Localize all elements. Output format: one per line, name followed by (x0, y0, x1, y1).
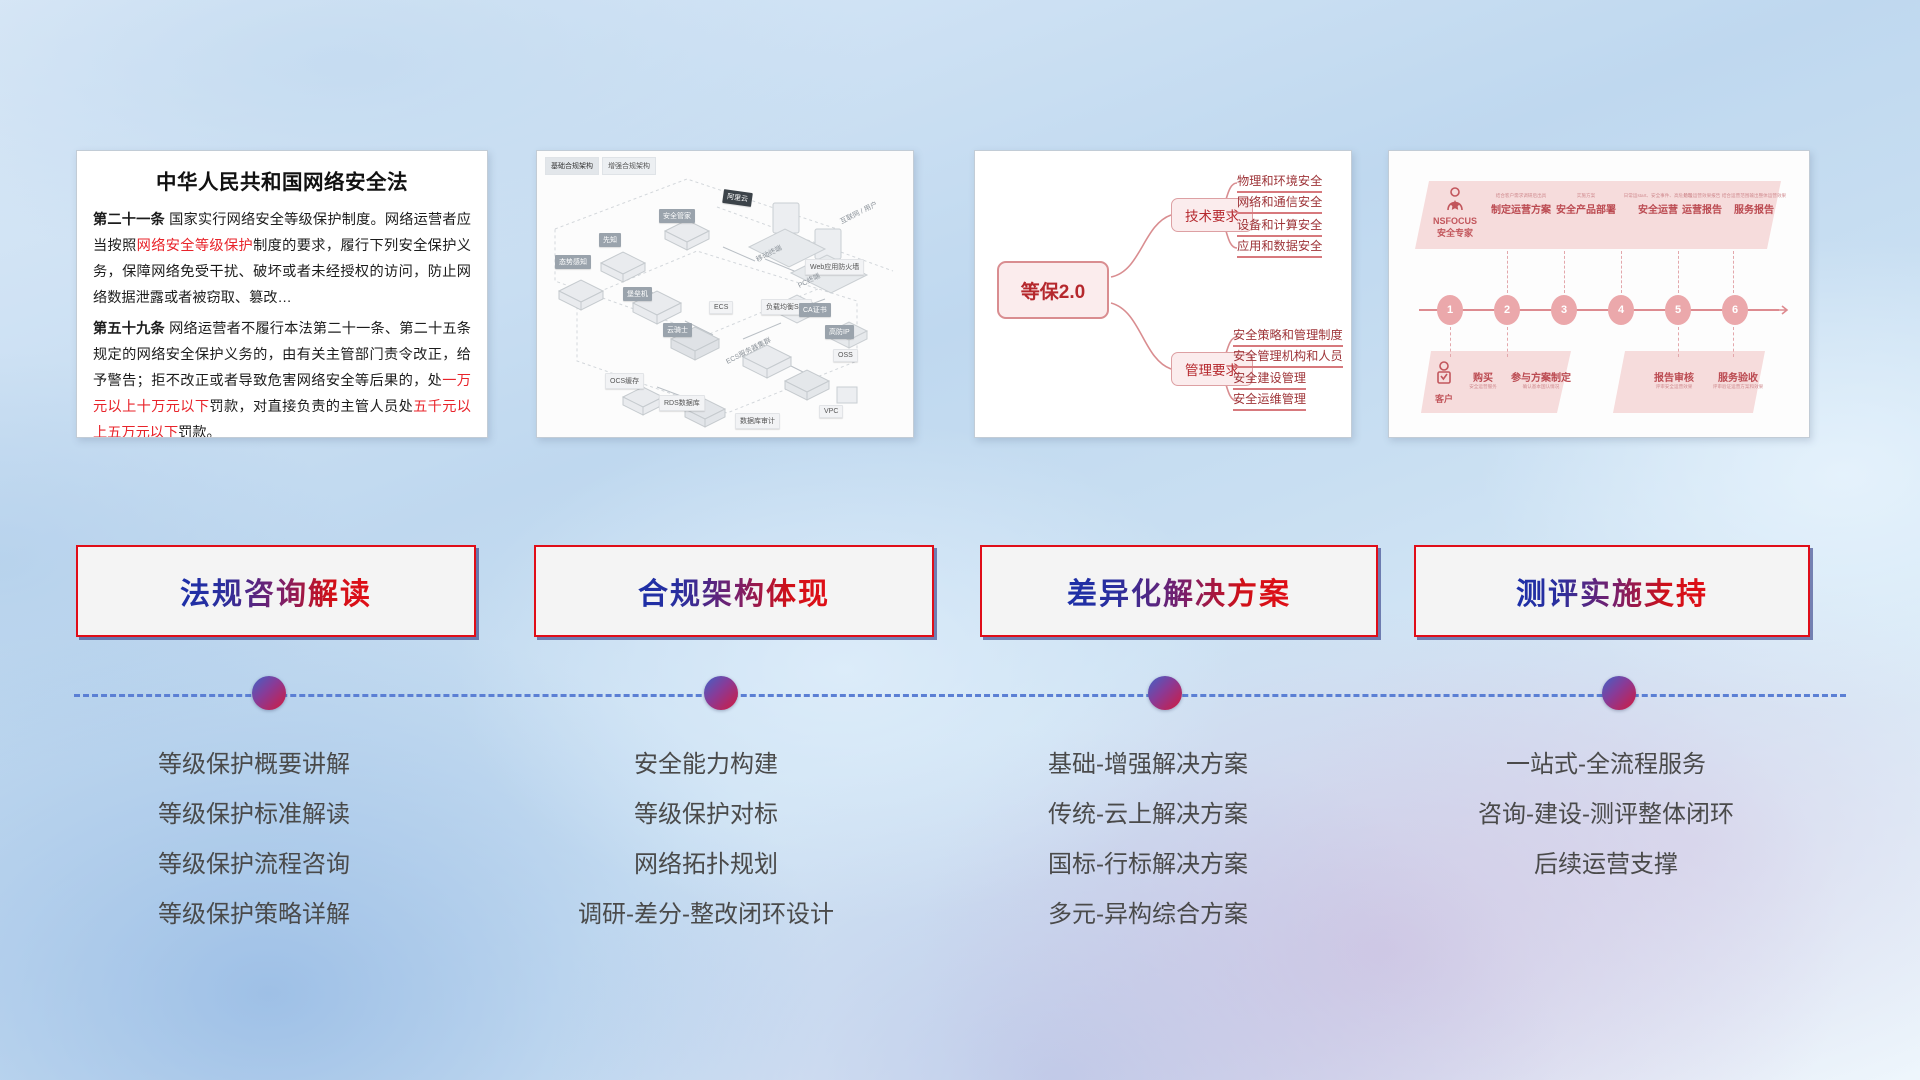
arch-node-ecs: ECS (709, 301, 733, 314)
nsfocus-customer-role: 客户 (1427, 392, 1461, 405)
list-item: 等级保护概要讲解 (74, 740, 434, 790)
list-item: 咨询-建设-测评整体闭环 (1406, 790, 1806, 840)
architecture-diagram: 基础合规架构 增强合规架构 (537, 151, 913, 437)
nsfocus-dash-5 (1733, 251, 1734, 293)
nsfocus-node-1: 1 (1437, 295, 1463, 325)
arch-node-xianzhi: 先知 (599, 233, 621, 247)
card-nsfocus-process[interactable]: NSFOCUS 安全专家 结合客户需求调研后出具 制定运营方案 实施方案 安全产… (1388, 150, 1810, 438)
title-box-differentiated-solution[interactable]: 差异化解决方案 (980, 545, 1378, 637)
title-box-compliance-architecture-label: 合规架构体现 (638, 569, 830, 613)
nsfocus-dash-6 (1450, 327, 1451, 357)
mindmap-leaf-construction-mgmt: 安全建设管理 (1233, 368, 1306, 390)
law-article-21: 第二十一条 国家实行网络安全等级保护制度。网络运营者应当按照网络安全等级保护制度… (93, 207, 471, 311)
expert-person-icon (1444, 187, 1466, 211)
nsfocus-bottom-step-1: 购买 安全运营服务 (1461, 367, 1505, 390)
law-content: 中华人民共和国网络安全法 第二十一条 国家实行网络安全等级保护制度。网络运营者应… (77, 151, 487, 438)
nsfocus-node-6: 6 (1722, 295, 1748, 325)
list-item: 等级保护标准解读 (74, 790, 434, 840)
mindmap-leaf-ops-mgmt: 安全运维管理 (1233, 389, 1306, 411)
title-box-regulation-consulting-label: 法规咨询解读 (180, 569, 372, 613)
mindmap-leaf-device-compute: 设备和计算安全 (1237, 215, 1322, 237)
list-item: 后续运营支撑 (1406, 840, 1806, 890)
arch-node-bastion-host: 堡垒机 (623, 287, 652, 301)
mindmap-leaf-policy-system: 安全策略和管理制度 (1233, 325, 1343, 347)
nsfocus-dash-7 (1507, 327, 1508, 357)
title-box-differentiated-solution-label: 差异化解决方案 (1067, 569, 1291, 613)
list-column-regulation: 等级保护概要讲解 等级保护标准解读 等级保护流程咨询 等级保护策略详解 (74, 740, 434, 940)
cards-row: 中华人民共和国网络安全法 第二十一条 国家实行网络安全等级保护制度。网络运营者应… (0, 150, 1920, 440)
nsfocus-node-3: 3 (1551, 295, 1577, 325)
nsfocus-bottom-step-2-main: 参与方案制定 (1505, 369, 1577, 384)
nsfocus-dash-9 (1733, 327, 1734, 357)
list-item: 传统-云上解决方案 (962, 790, 1334, 840)
arch-node-vpc: VPC (819, 405, 843, 418)
timeline-dot-4[interactable] (1602, 676, 1636, 710)
list-column-evaluation: 一站式-全流程服务 咨询-建设-测评整体闭环 后续运营支撑 (1406, 740, 1806, 890)
nsfocus-axis-arrow-icon (1775, 301, 1793, 319)
nsfocus-dash-2 (1564, 251, 1565, 293)
nsfocus-step-5-sub: 结合运营范围输出整体运营效果 (1715, 193, 1793, 199)
title-boxes-row: 法规咨询解读 合规架构体现 差异化解决方案 测评实施支持 (0, 545, 1920, 637)
nsfocus-node-4: 4 (1608, 295, 1634, 325)
nsfocus-bottom-step-4-sub: 评审验证运营方案和效果 (1701, 384, 1775, 390)
arch-node-cloud-knight: 云骑士 (663, 323, 692, 337)
arch-node-security-butler: 安全管家 (659, 209, 695, 223)
list-item: 国标-行标解决方案 (962, 840, 1334, 890)
arch-node-db-audit: 数据库审计 (735, 413, 780, 429)
nsfocus-bottom-step-4-main: 服务验收 (1701, 369, 1775, 384)
list-item: 网络拓扑规划 (520, 840, 892, 890)
bottom-lists-row: 等级保护概要讲解 等级保护标准解读 等级保护流程咨询 等级保护策略详解 安全能力… (0, 740, 1920, 960)
nsfocus-timeline: NSFOCUS 安全专家 结合客户需求调研后出具 制定运营方案 实施方案 安全产… (1389, 151, 1809, 437)
nsfocus-bottom-step-2: 参与方案制定 确认基本国认情况 (1505, 367, 1577, 390)
card-cybersecurity-law[interactable]: 中华人民共和国网络安全法 第二十一条 国家实行网络安全等级保护制度。网络运营者应… (76, 150, 488, 438)
nsfocus-dash-3 (1621, 251, 1622, 293)
nsfocus-node-2: 2 (1494, 295, 1520, 325)
nsfocus-bottom-step-4: 服务验收 评审验证运营方案和效果 (1701, 367, 1775, 390)
timeline (0, 690, 1920, 730)
list-item: 等级保护流程咨询 (74, 840, 434, 890)
nsfocus-dash-4 (1678, 251, 1679, 293)
list-item: 安全能力构建 (520, 740, 892, 790)
arch-node-rds-database: RDS数据库 (659, 395, 705, 411)
nsfocus-customer: 客户 (1427, 361, 1461, 405)
mindmap-leaf-app-data: 应用和数据安全 (1237, 236, 1322, 258)
nsfocus-step-5: 结合运营范围输出整体运营效果 服务报告 (1715, 193, 1793, 216)
title-box-evaluation-support[interactable]: 测评实施支持 (1414, 545, 1810, 637)
mindmap-leaf-network-comm: 网络和通信安全 (1237, 192, 1322, 214)
arch-node-situation-awareness: 态势感知 (555, 255, 591, 269)
law-title: 中华人民共和国网络安全法 (93, 165, 471, 195)
nsfocus-bottom-step-2-sub: 确认基本国认情况 (1505, 384, 1577, 390)
nsfocus-dash-1 (1507, 251, 1508, 293)
mindmap-leaf-physical-env: 物理和环境安全 (1237, 171, 1322, 193)
nsfocus-bottom-step-3: 报告审核 评审安全运营效果 (1641, 367, 1707, 390)
mindmap-root: 等保2.0 (997, 261, 1109, 319)
timeline-dot-2[interactable] (704, 676, 738, 710)
list-column-solution: 基础-增强解决方案 传统-云上解决方案 国标-行标解决方案 多元-异构综合方案 (962, 740, 1334, 940)
nsfocus-expert-role: 安全专家 (1429, 226, 1481, 239)
title-box-compliance-architecture[interactable]: 合规架构体现 (534, 545, 934, 637)
mindmap: 等保2.0 技术要求 管理要求 物理和环境安全 网络和通信安全 设备和计算安全 … (975, 151, 1351, 437)
list-item: 等级保护对标 (520, 790, 892, 840)
nsfocus-bottom-step-3-main: 报告审核 (1641, 369, 1707, 384)
timeline-dot-3[interactable] (1148, 676, 1182, 710)
mindmap-leaf-org-personnel: 安全管理机构和人员 (1233, 346, 1343, 368)
law-article-59-text-3: 罚款。 (178, 425, 221, 438)
law-article-59-text-2: 罚款，对直接负责的主管人员处 (209, 399, 413, 415)
nsfocus-node-5: 5 (1665, 295, 1691, 325)
title-box-evaluation-support-label: 测评实施支持 (1516, 569, 1708, 613)
law-article-21-label: 第二十一条 (93, 212, 165, 228)
list-item: 基础-增强解决方案 (962, 740, 1334, 790)
nsfocus-expert-name: NSFOCUS (1429, 216, 1481, 226)
arch-node-ca-certificate: CA证书 (799, 303, 831, 317)
nsfocus-expert: NSFOCUS 安全专家 (1429, 187, 1481, 239)
title-box-regulation-consulting[interactable]: 法规咨询解读 (76, 545, 476, 637)
law-article-59-label: 第五十九条 (93, 321, 165, 337)
list-item: 多元-异构综合方案 (962, 890, 1334, 940)
law-article-59: 第五十九条 网络运营者不履行本法第二十一条、第二十五条规定的网络安全保护义务的，… (93, 316, 471, 438)
nsfocus-bottom-step-3-sub: 评审安全运营效果 (1641, 384, 1707, 390)
arch-node-oss: OSS (833, 349, 858, 362)
card-mindmap-dengbao[interactable]: 等保2.0 技术要求 管理要求 物理和环境安全 网络和通信安全 设备和计算安全 … (974, 150, 1352, 438)
nsfocus-dash-8 (1678, 327, 1679, 357)
timeline-dashed-line (74, 694, 1846, 697)
law-article-21-highlight: 网络安全等级保护 (137, 238, 253, 254)
nsfocus-bottom-step-1-sub: 安全运营服务 (1461, 384, 1505, 390)
nsfocus-bottom-step-1-main: 购买 (1461, 369, 1505, 384)
arch-node-anti-ddos-ip: 高防IP (825, 325, 854, 339)
list-item: 调研-差分-整改闭环设计 (520, 890, 892, 940)
arch-node-ocs-cache: OCS缓存 (605, 373, 644, 389)
timeline-dot-1[interactable] (252, 676, 286, 710)
customer-person-icon (1434, 361, 1454, 387)
list-item: 等级保护策略详解 (74, 890, 434, 940)
card-cloud-architecture[interactable]: 基础合规架构 增强合规架构 (536, 150, 914, 438)
list-item: 一站式-全流程服务 (1406, 740, 1806, 790)
nsfocus-step-5-main: 服务报告 (1715, 201, 1793, 216)
list-column-architecture: 安全能力构建 等级保护对标 网络拓扑规划 调研-差分-整改闭环设计 (520, 740, 892, 940)
